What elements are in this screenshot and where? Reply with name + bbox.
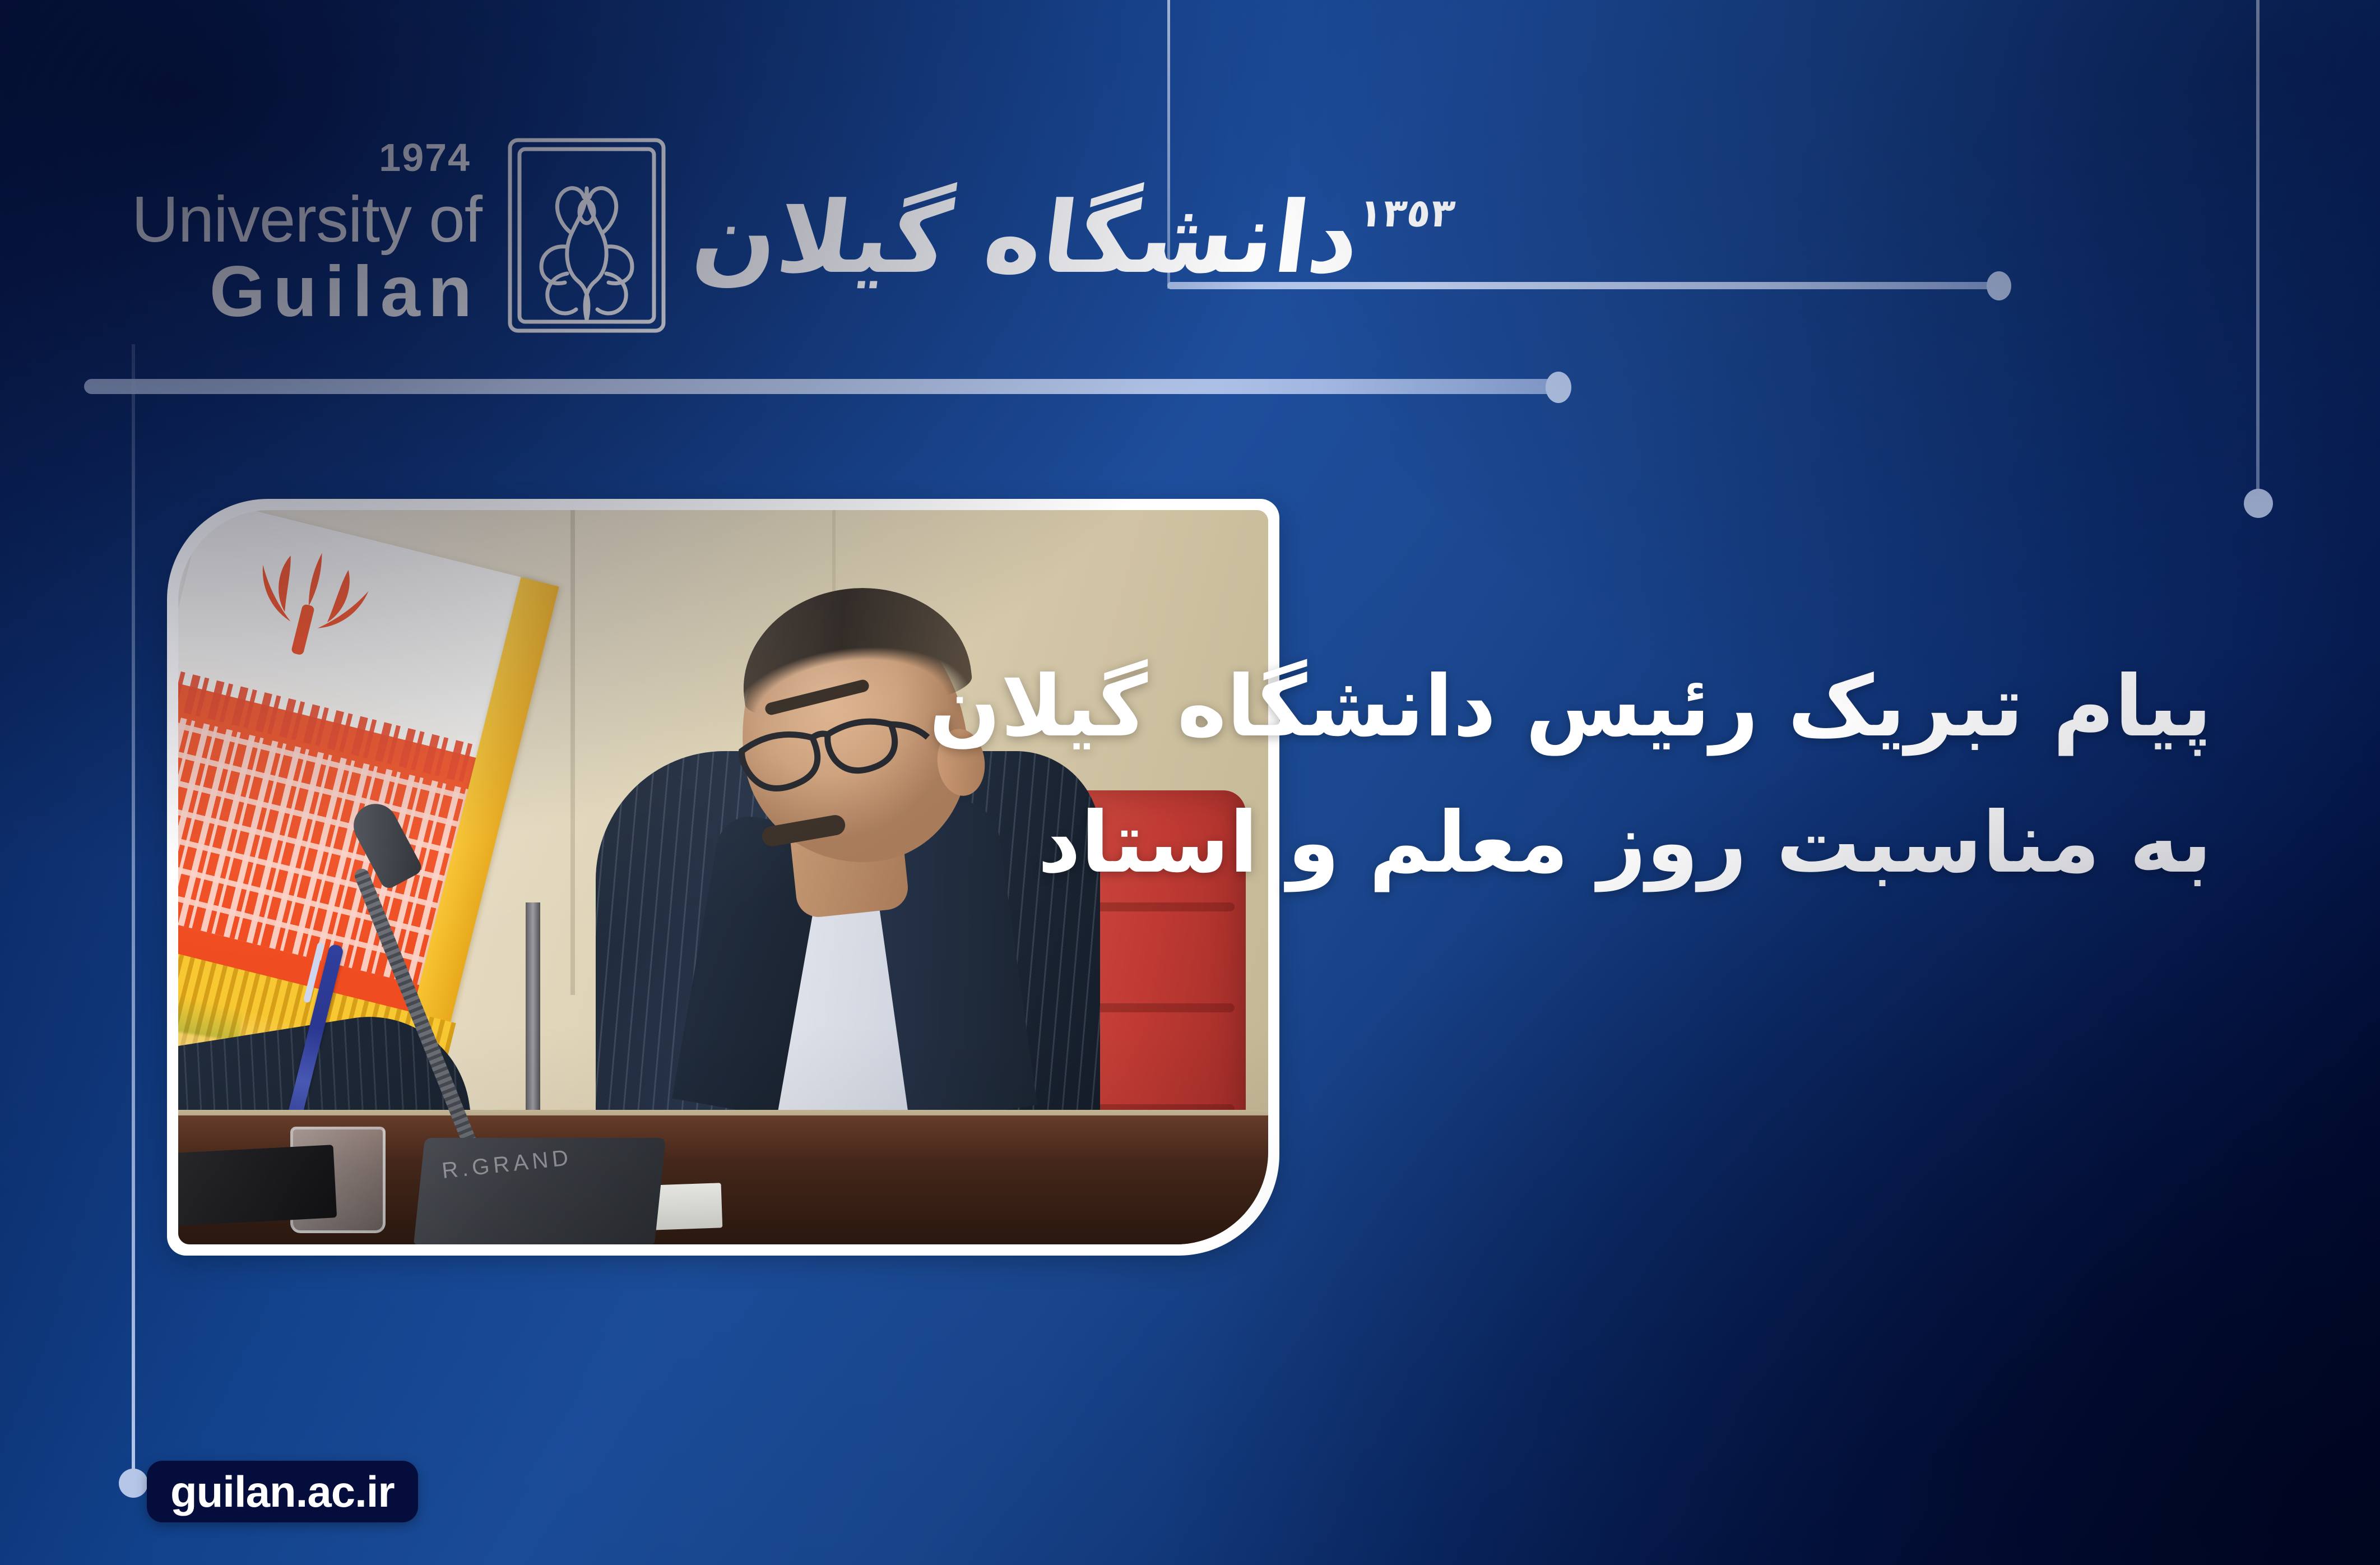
- deco-dot-left-bottom: [119, 1469, 148, 1498]
- deco-vertical-line-right-edge: [2256, 0, 2260, 493]
- headline: پیام تبریک رئیس دانشگاه گیلان به مناسبت …: [1063, 639, 2212, 911]
- deco-dot-left-bar: [1546, 372, 1571, 403]
- logo-persian-lockup: ١٣٥٣ دانشگاه گیلان: [694, 182, 1458, 289]
- logo-line-university-of: University of: [132, 186, 482, 252]
- website-url-badge[interactable]: guilan.ac.ir: [147, 1461, 418, 1522]
- headline-line-1: پیام تبریک رئیس دانشگاه گیلان: [1063, 639, 2212, 775]
- guilan-university-butterfly-emblem-icon: [494, 135, 679, 336]
- logo-year-persian: ١٣٥٣: [1356, 190, 1458, 236]
- logo-line-guilan: Guilan: [210, 256, 482, 329]
- logo-english-lockup: 1974 University of Guilan: [168, 142, 482, 329]
- deco-vertical-line-left: [132, 344, 135, 1483]
- website-url-text: guilan.ac.ir: [170, 1466, 395, 1517]
- announcement-banner: 1974 University of Guilan ١٣٥: [0, 0, 2380, 1565]
- deco-horizontal-line-left: [84, 379, 1558, 394]
- logo-name-persian: دانشگاه گیلان: [688, 188, 1366, 289]
- university-logo: 1974 University of Guilan ١٣٥: [168, 118, 1149, 353]
- deco-dot-right-edge: [2244, 489, 2273, 518]
- logo-year-english: 1974: [379, 138, 471, 177]
- headline-line-2: به مناسبت روز معلم و استاد: [1063, 775, 2212, 911]
- deco-dot-top-right: [1987, 271, 2011, 300]
